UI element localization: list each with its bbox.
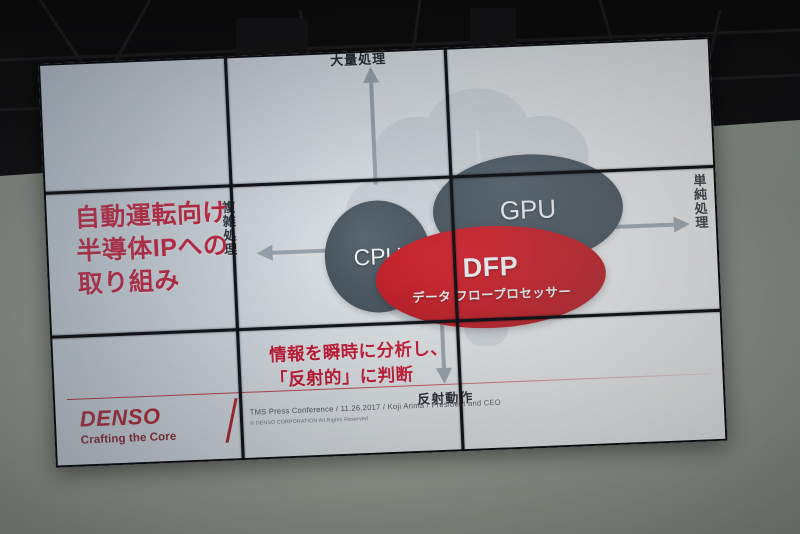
denso-logo: DENSO Crafting the Core (79, 403, 221, 447)
title-line-2: 半導体IPへの (76, 229, 237, 268)
title-line-3: 取り組み (77, 262, 238, 301)
bezel-seam-horizontal-2 (50, 309, 722, 339)
denso-logo-tagline: Crafting the Core (81, 429, 221, 447)
photo-scene: 大量処理 複雑処理 単純処理 反射動作 自動運転向け 半導体IPへの 取り組み … (0, 0, 800, 534)
node-dfp-sublabel: データ フロープロセッサー (412, 280, 572, 305)
node-gpu-label: GPU (499, 193, 557, 226)
axis-label-top: 大量処理 (330, 48, 387, 69)
axis-arrow-left-icon (254, 240, 335, 263)
axis-label-right: 単純処理 (692, 173, 708, 229)
video-wall: 大量処理 複雑処理 単純処理 反射動作 自動運転向け 半導体IPへの 取り組み … (38, 37, 727, 468)
presentation-slide: 大量処理 複雑処理 単純処理 反射動作 自動運転向け 半導体IPへの 取り組み … (38, 37, 727, 468)
logo-slash-divider (226, 398, 238, 443)
denso-logo-word: DENSO (79, 403, 220, 431)
axis-arrow-up-icon (360, 64, 385, 187)
slide-title: 自動運転向け 半導体IPへの 取り組み (74, 196, 238, 301)
node-dfp-label: DFP (462, 250, 519, 283)
footer-credit-block: TMS Press Conference / 11.26.2017 / Koji… (250, 398, 502, 427)
